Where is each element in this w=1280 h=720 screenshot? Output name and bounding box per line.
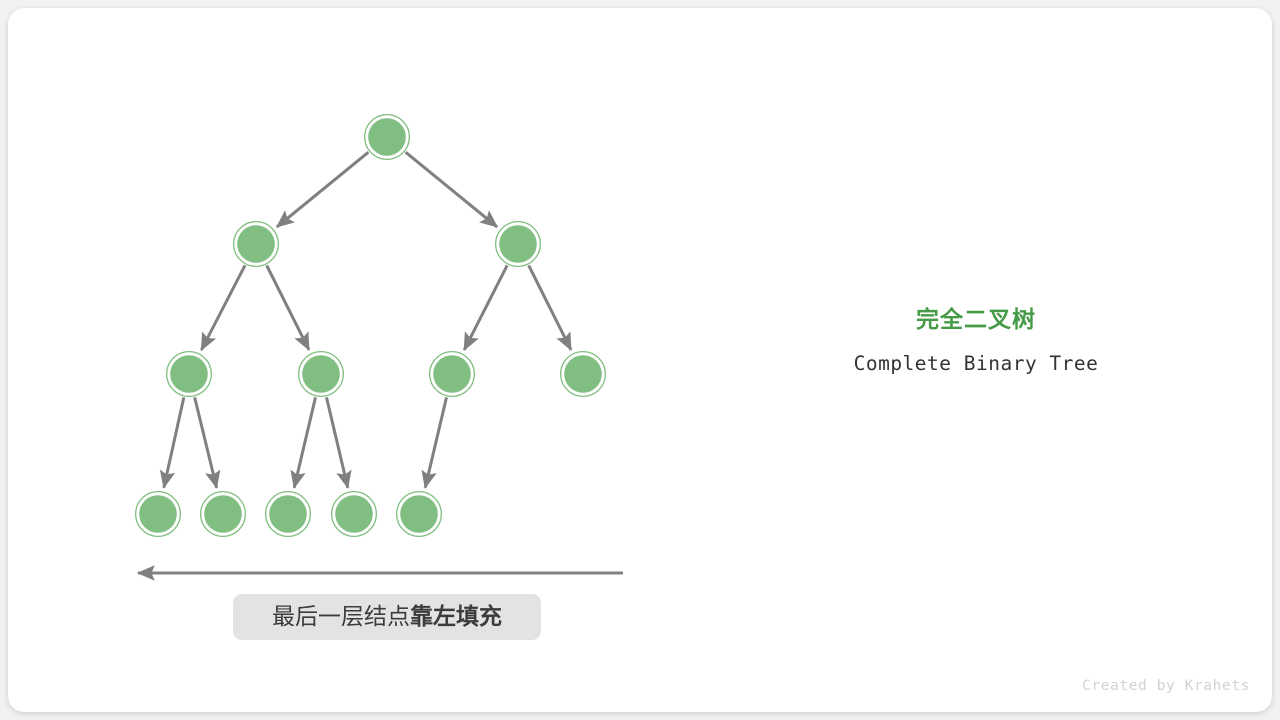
node-disc [564,355,602,393]
tree-nodes [136,115,605,536]
tree-edge [406,152,498,227]
node-disc [170,355,208,393]
credit-text: Created by Krahets [1082,678,1250,694]
node-disc [237,225,275,263]
node-disc [204,495,242,533]
legend-title: 完全二叉树 [766,300,1186,334]
tree-node[interactable] [299,352,343,396]
tree-node[interactable] [430,352,474,396]
node-disc [433,355,471,393]
tree-node[interactable] [332,492,376,536]
node-disc [335,495,373,533]
screenshot-canvas: 最后一层结点靠左填充 完全二叉树 Complete Binary Tree Cr… [0,0,1280,720]
tree-edge [327,397,348,487]
tree-node[interactable] [136,492,180,536]
caption-badge: 最后一层结点靠左填充 [233,594,541,640]
tree-edge [294,397,315,487]
tree-edge [277,152,369,227]
tree-edge [464,265,507,350]
tree-node[interactable] [167,352,211,396]
node-disc [499,225,537,263]
node-disc [302,355,340,393]
caption-label: 最后一层结点靠左填充 [272,603,502,629]
tree-edge [529,265,571,349]
slide-card: 最后一层结点靠左填充 完全二叉树 Complete Binary Tree Cr… [8,8,1272,712]
tree-node[interactable] [365,115,409,159]
tree-edge [164,397,184,487]
tree-edges [164,152,571,488]
node-disc [400,495,438,533]
tree-node[interactable] [496,222,540,266]
node-disc [269,495,307,533]
tree-edge [425,397,446,487]
node-disc [139,495,177,533]
tree-node[interactable] [561,352,605,396]
legend-subtitle: Complete Binary Tree [766,352,1186,375]
tree-node[interactable] [234,222,278,266]
tree-node[interactable] [397,492,441,536]
tree-edge [195,397,217,487]
tree-edge [201,265,245,350]
tree-edge [267,265,309,349]
node-disc [368,118,406,156]
tree-node[interactable] [266,492,310,536]
tree-node[interactable] [201,492,245,536]
